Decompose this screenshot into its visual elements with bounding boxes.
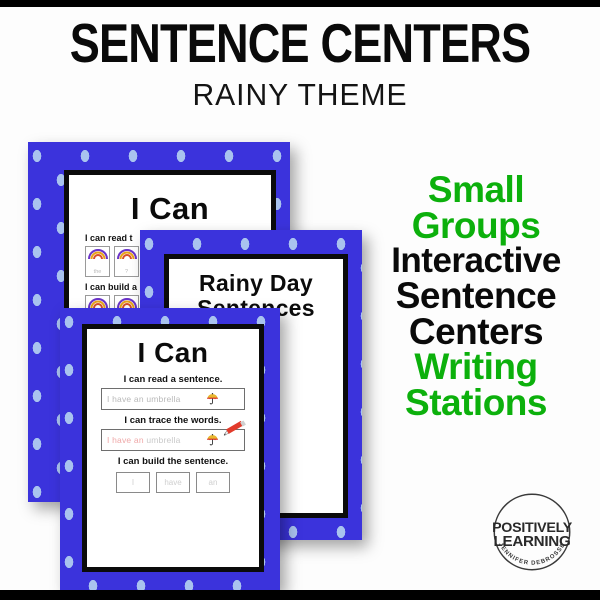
sentence-text: I have an umbrella bbox=[102, 394, 181, 404]
tile-label: the bbox=[94, 269, 102, 275]
feature-item-small: Small bbox=[360, 172, 592, 208]
feature-item-stations: Stations bbox=[360, 385, 592, 421]
tile-label: ? bbox=[125, 269, 128, 275]
feature-list: Small Groups Interactive Sentence Center… bbox=[360, 172, 592, 421]
sentence-box-trace[interactable]: I have an umbrella bbox=[101, 429, 245, 451]
card-front-task-read: I can read a sentence. bbox=[87, 374, 259, 385]
rainbow-icon bbox=[88, 249, 108, 260]
trace-rest: umbrella bbox=[144, 435, 181, 445]
umbrella-icon bbox=[205, 432, 220, 447]
card-front-heading: I Can bbox=[87, 337, 259, 369]
word-tile[interactable]: have bbox=[156, 472, 190, 493]
feature-item-centers: Centers bbox=[360, 314, 592, 350]
page-subtitle: RAINY THEME bbox=[9, 78, 591, 112]
rainbow-word-tile[interactable]: the bbox=[85, 246, 110, 277]
page-title: SENTENCE CENTERS bbox=[54, 14, 546, 72]
feature-item-writing: Writing bbox=[360, 349, 592, 385]
word-tile[interactable]: an bbox=[196, 472, 230, 493]
product-cover: SENTENCE CENTERS RAINY THEME I Can I can… bbox=[0, 0, 600, 600]
feature-item-interactive: Interactive bbox=[360, 244, 592, 278]
card-stack: I Can I can read t the bbox=[0, 130, 420, 580]
letterbox-bottom bbox=[0, 590, 600, 600]
header: SENTENCE CENTERS RAINY THEME bbox=[0, 14, 600, 112]
rainbow-icon bbox=[117, 249, 137, 260]
rainbow-word-tile[interactable]: ? bbox=[114, 246, 139, 277]
umbrella-icon bbox=[205, 391, 220, 406]
letterbox-top bbox=[0, 0, 600, 7]
card-front-task-build: I can build the sentence. bbox=[87, 456, 259, 467]
brand-logo: POSITIVELY LEARNING JENNIFER DEBROSSE bbox=[486, 486, 578, 578]
feature-item-sentence: Sentence bbox=[360, 278, 592, 314]
word-tile[interactable]: I bbox=[116, 472, 150, 493]
card-back-heading: I Can bbox=[69, 191, 271, 227]
feature-item-groups: Groups bbox=[360, 208, 592, 244]
card-front-sheet: I Can I can read a sentence. I have an u… bbox=[82, 324, 264, 572]
card-front: I Can I can read a sentence. I have an u… bbox=[60, 308, 280, 590]
word-tile-row: I have an bbox=[87, 472, 259, 493]
sentence-box-read[interactable]: I have an umbrella bbox=[101, 388, 245, 410]
trace-done: I have an bbox=[107, 435, 144, 445]
trace-text: I have an umbrella bbox=[102, 435, 181, 445]
